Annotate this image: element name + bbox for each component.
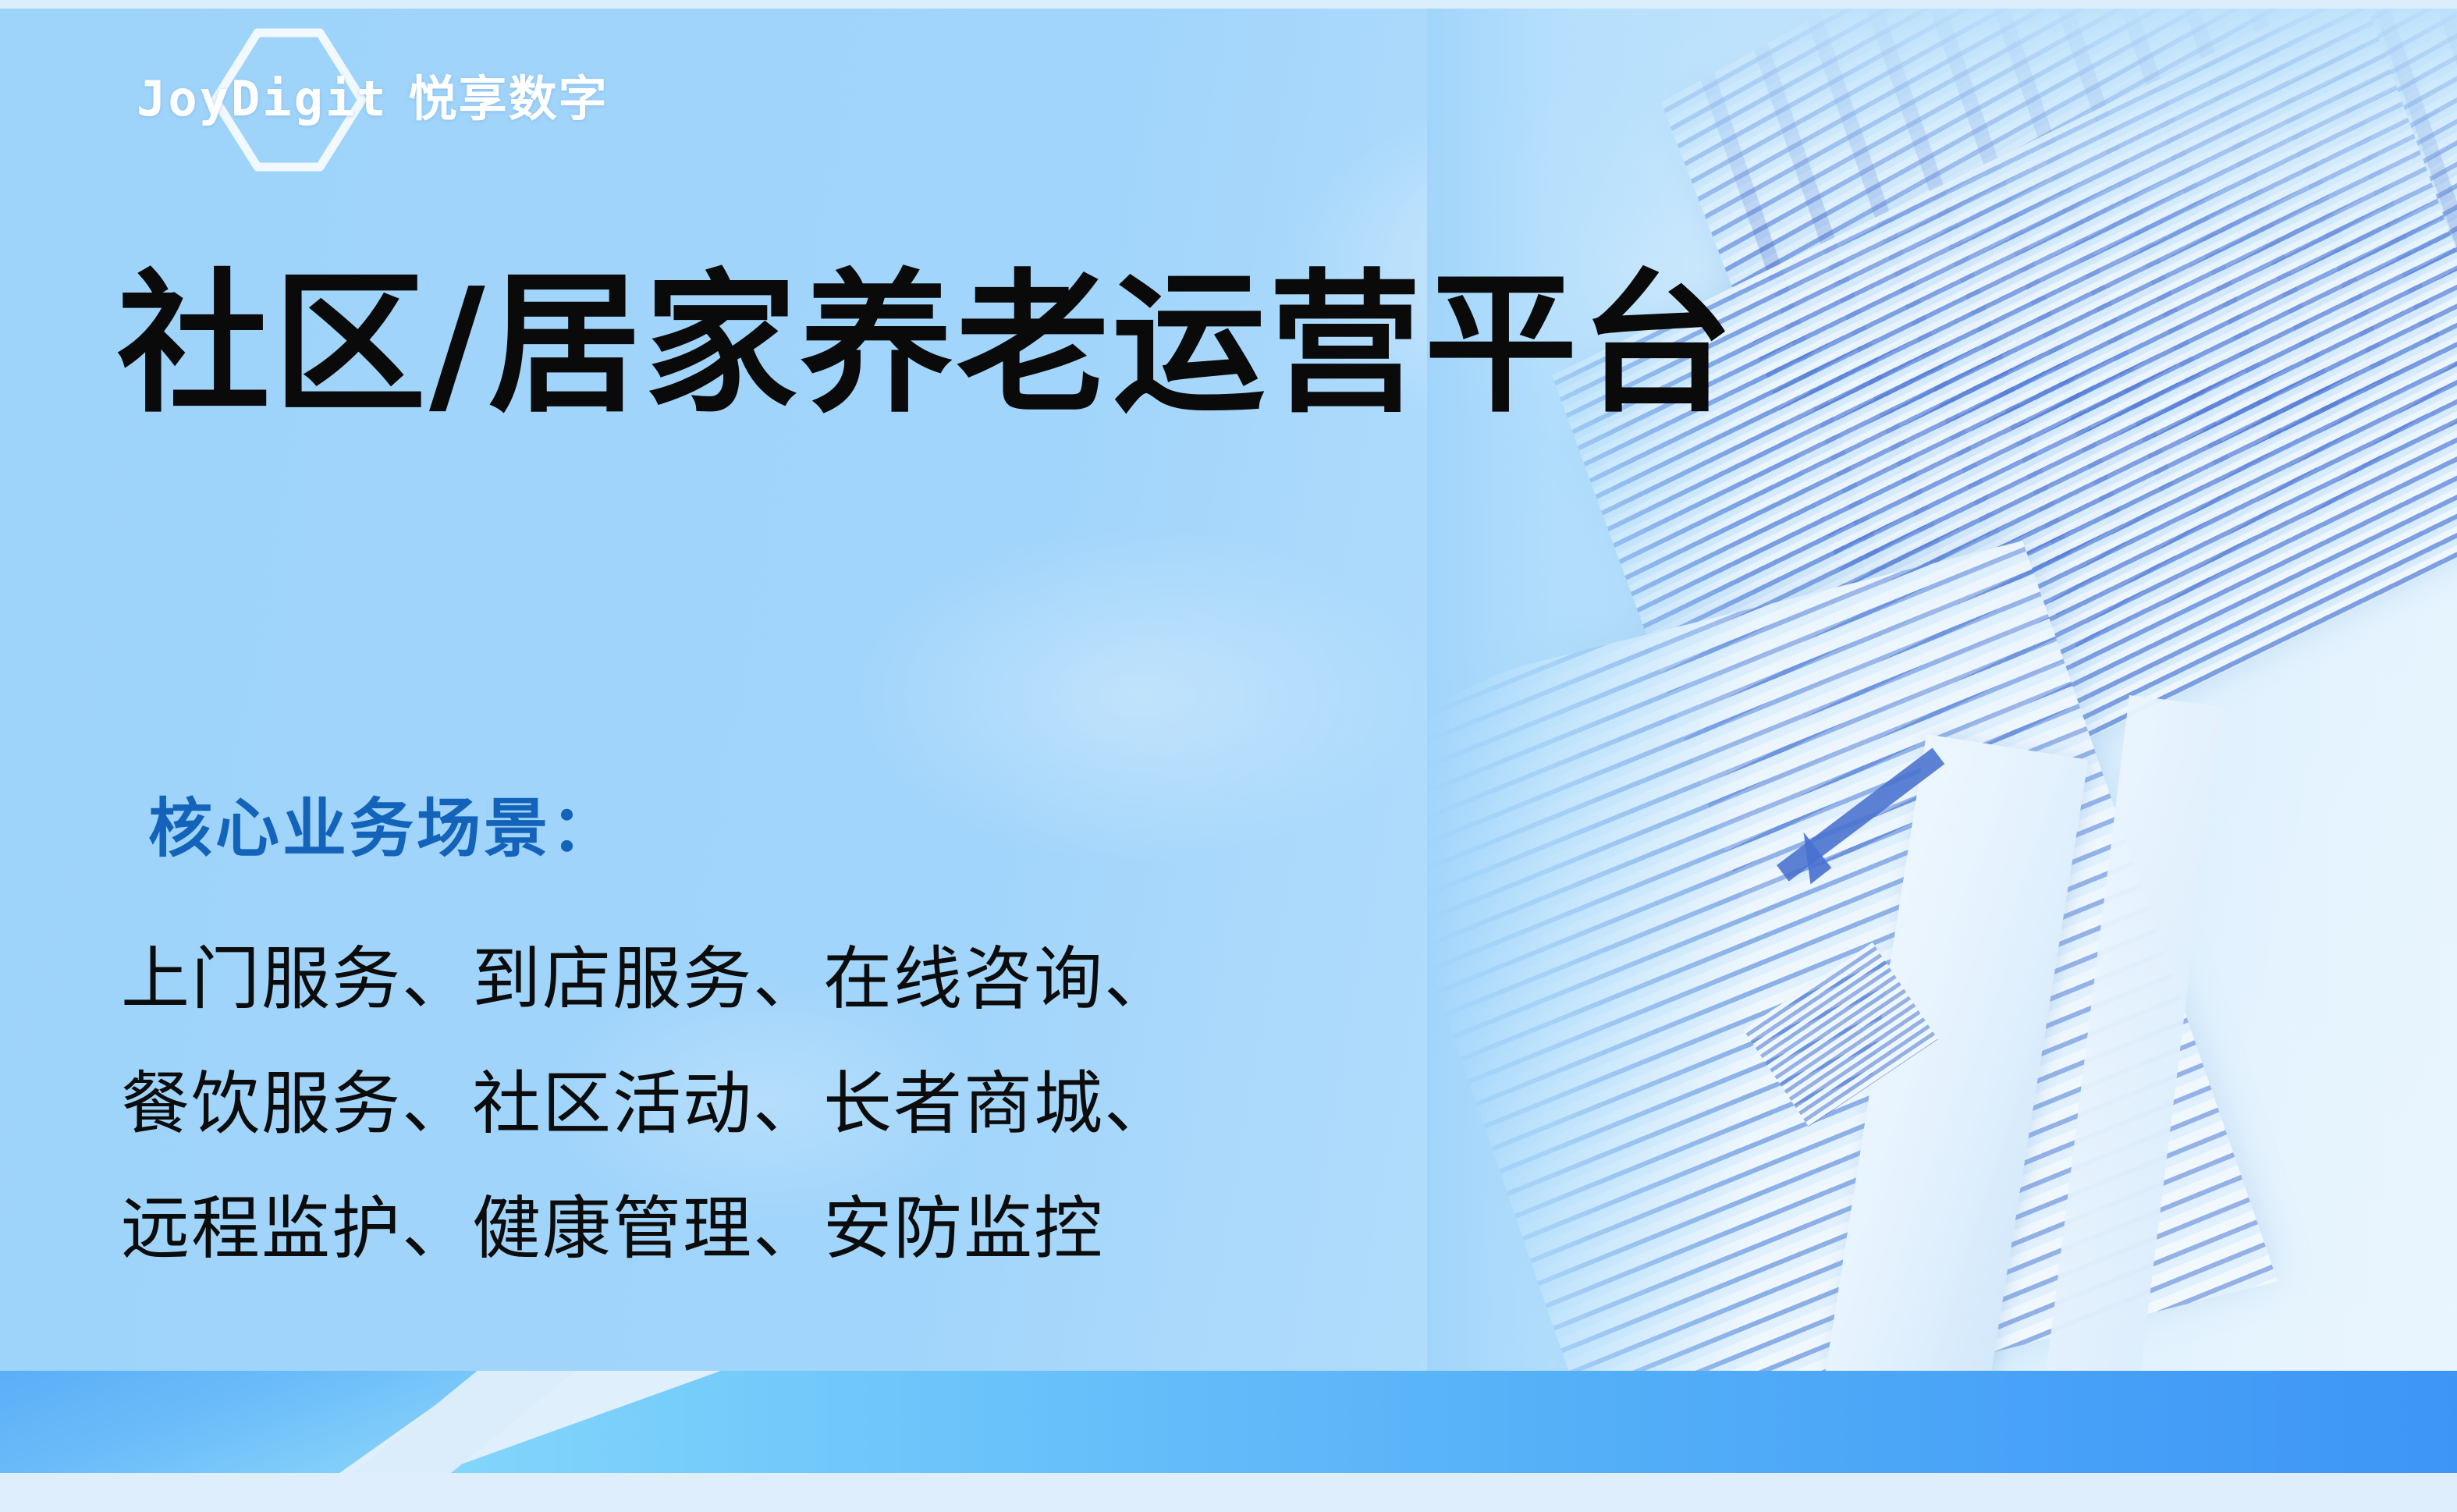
section-heading-core-scenarios: 核心业务场景： bbox=[148, 776, 618, 869]
top-edge-strip bbox=[0, 0, 2457, 9]
skyscraper-photo bbox=[1427, 9, 2457, 1371]
scenario-list: 上门服务、到店服务、在线咨询、 餐饮服务、社区活动、长者商城、 远程监护、健康管… bbox=[121, 917, 1174, 1291]
brand-logo[interactable]: JoyDigit 悦享数字 bbox=[137, 31, 573, 133]
slide-canvas: JoyDigit 悦享数字 社区/居家养老运营平台 核心业务场景： 上门服务、到… bbox=[0, 0, 2457, 1512]
scenario-line: 远程监护、健康管理、安防监控 bbox=[121, 1166, 1174, 1291]
brand-logo-cn: 悦享数字 bbox=[409, 59, 609, 130]
brand-logo-en: JoyDigit bbox=[137, 70, 389, 127]
brand-logo-text: JoyDigit 悦享数字 bbox=[137, 59, 609, 130]
footer-bottom-strip bbox=[0, 1473, 2457, 1512]
scenario-line: 上门服务、到店服务、在线咨询、 bbox=[121, 917, 1174, 1042]
footer-band-right bbox=[437, 1371, 2457, 1473]
scenario-line: 餐饮服务、社区活动、长者商城、 bbox=[121, 1042, 1174, 1166]
photo-fade-left bbox=[1427, 9, 1755, 1371]
page-title: 社区/居家养老运营平台 bbox=[117, 265, 1737, 426]
